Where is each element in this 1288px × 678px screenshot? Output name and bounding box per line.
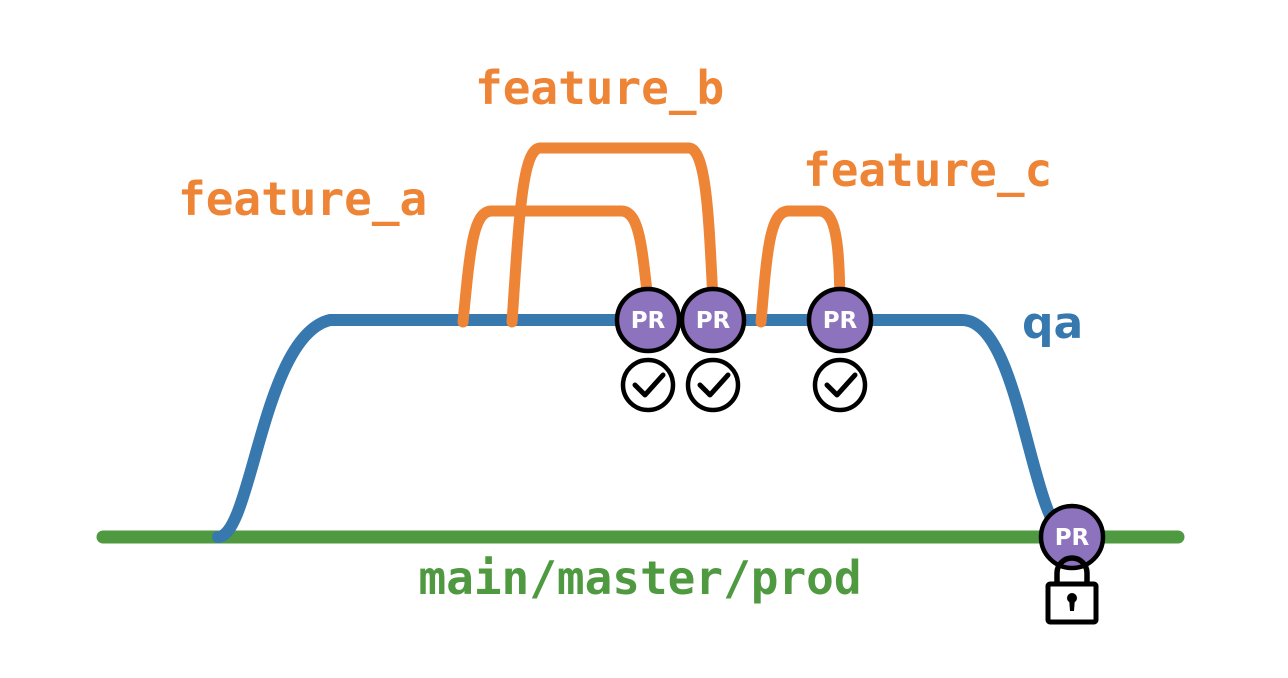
check-circle-outline — [815, 360, 865, 410]
pr-node-label: PR — [696, 308, 731, 334]
pr-node-feature-c[interactable]: PR — [809, 289, 871, 351]
branch-label-feature-a: feature_a — [178, 172, 427, 226]
branch-line-feature-b — [512, 148, 713, 322]
branch-label-feature-b: feature_b — [475, 61, 724, 115]
check-circle-outline — [623, 360, 673, 410]
pr-node-feature-a[interactable]: PR — [617, 289, 679, 351]
git-branch-diagram: feature_a feature_b feature_c qa main/ma… — [0, 0, 1288, 678]
branch-label-qa: qa — [1022, 298, 1083, 349]
check-circle-outline — [688, 360, 738, 410]
branch-label-main: main/master/prod — [418, 551, 861, 605]
check-circle-icon — [815, 360, 865, 410]
pr-node-label: PR — [823, 308, 858, 334]
pr-node-feature-b[interactable]: PR — [682, 289, 744, 351]
check-circle-icon — [688, 360, 738, 410]
pr-node-label: PR — [631, 308, 666, 334]
check-circle-icon — [623, 360, 673, 410]
pr-node-label: PR — [1055, 525, 1090, 551]
lock-keyhole-stem — [1069, 598, 1075, 611]
branch-label-feature-c: feature_c — [803, 143, 1052, 197]
branch-diagram-canvas: feature_a feature_b feature_c qa main/ma… — [0, 0, 1288, 678]
